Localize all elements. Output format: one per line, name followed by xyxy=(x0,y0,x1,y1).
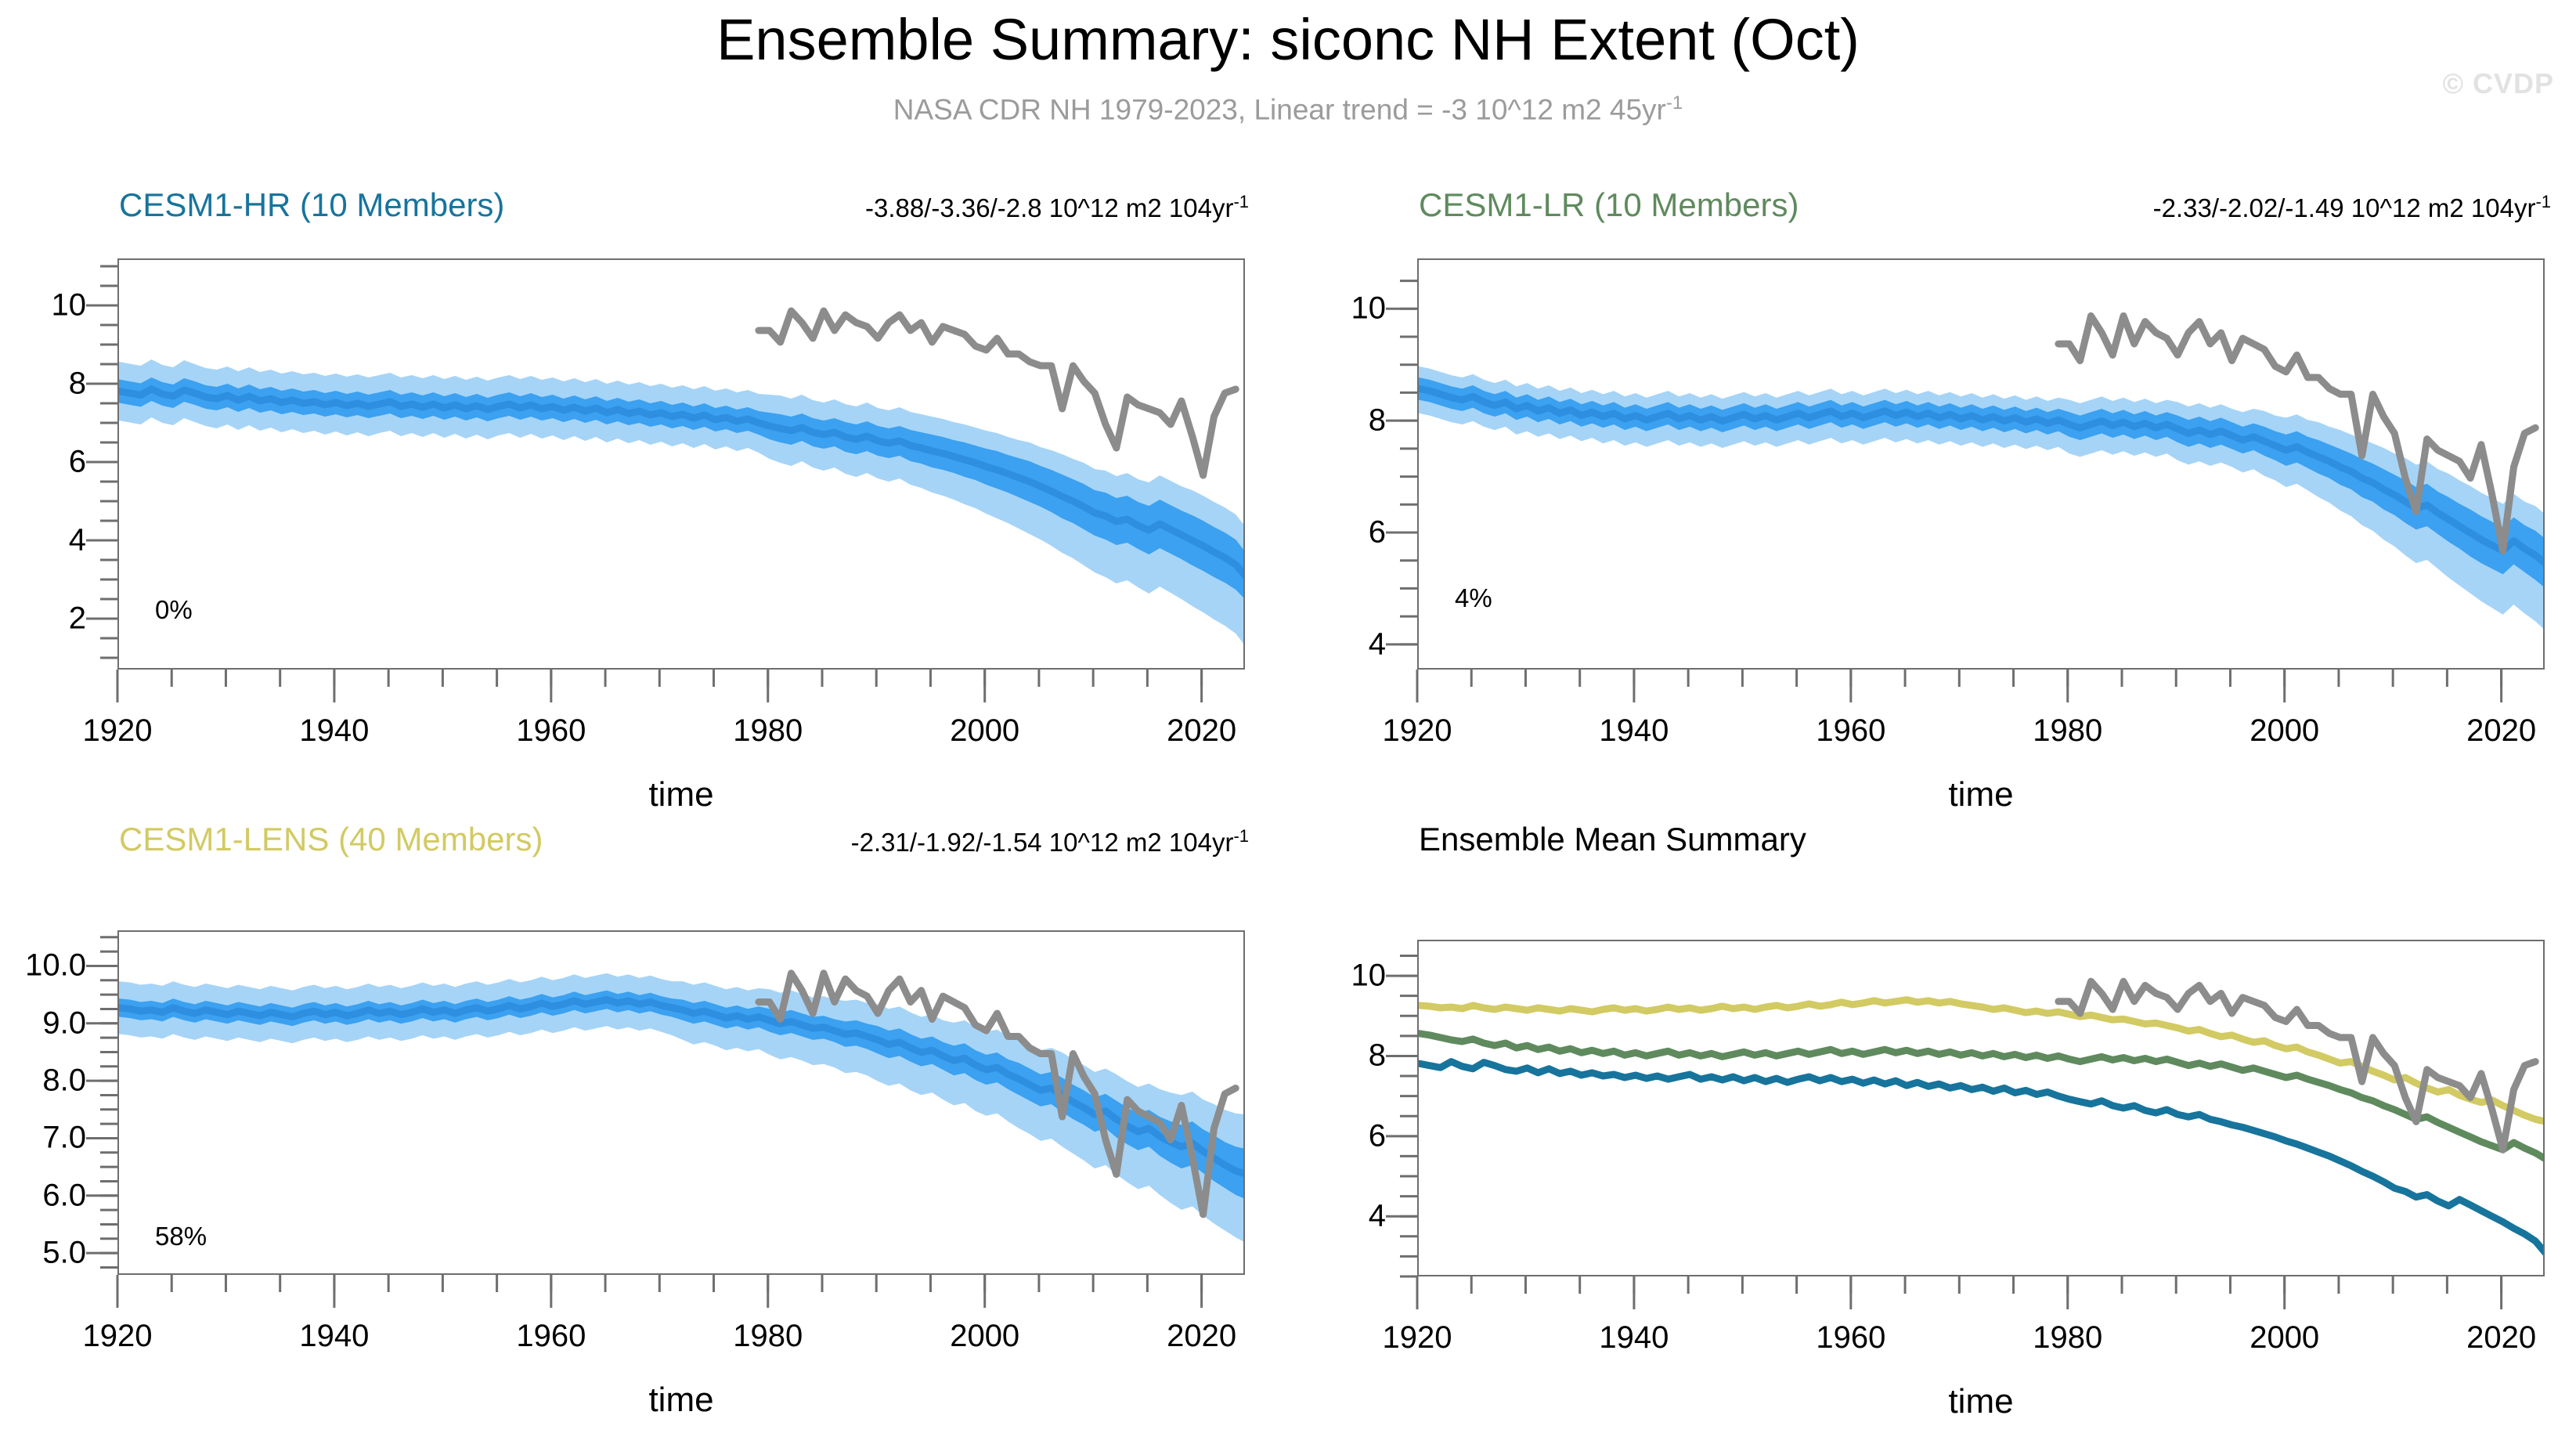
x-tick-label: 2000 xyxy=(950,1319,1019,1354)
x-tick-label: 2020 xyxy=(1167,1319,1236,1354)
y-tick-label: 6.0 xyxy=(0,1178,86,1213)
x-tick-label: 1940 xyxy=(1599,1320,1669,1356)
trend-exponent: -1 xyxy=(2535,192,2551,211)
observation-line xyxy=(2058,981,2535,1150)
x-axis-label-ensemble-mean-summary: time xyxy=(1417,1382,2545,1421)
plot-area-cesm1-hr xyxy=(117,258,1245,670)
x-tick-label: 1960 xyxy=(1816,1320,1885,1356)
cvdp-watermark: © CVDP xyxy=(2442,67,2554,100)
panel-title-ensemble-mean-summary: Ensemble Mean Summary xyxy=(1419,821,1806,858)
overlap-percent-cesm1-lr: 4% xyxy=(1455,583,1492,613)
x-axis-label-cesm1-lr: time xyxy=(1417,775,2545,814)
mean-line-cesm1-lr xyxy=(1419,1034,2545,1160)
plot-area-cesm1-lens xyxy=(117,930,1245,1275)
y-tick-label: 7.0 xyxy=(0,1121,86,1156)
panel-title-cesm1-lr: CESM1-LR (10 Members) xyxy=(1419,186,1799,224)
x-tick-label: 1940 xyxy=(299,1319,369,1354)
x-tick-label: 1920 xyxy=(83,1319,153,1354)
x-tick-label: 1920 xyxy=(83,713,153,749)
x-tick-label: 2000 xyxy=(950,713,1019,749)
y-tick-label: 2 xyxy=(0,601,86,637)
page-subtitle: NASA CDR NH 1979-2023, Linear trend = -3… xyxy=(0,92,2576,126)
x-tick-label: 1980 xyxy=(733,1319,803,1354)
x-axis-label-cesm1-lens: time xyxy=(117,1381,1245,1420)
x-tick-label: 1960 xyxy=(516,713,586,749)
plot-svg-cesm1-lens xyxy=(119,932,1245,1275)
x-tick-label: 1920 xyxy=(1383,713,1452,749)
trend-value: -2.33/-2.02/-1.49 10^12 m2 104yr xyxy=(2153,193,2536,222)
trend-value: -2.31/-1.92/-1.54 10^12 m2 104yr xyxy=(851,828,1234,857)
y-tick-label: 10 xyxy=(1268,959,1386,994)
x-tick-label: 1960 xyxy=(1816,713,1885,749)
y-tick-label: 10 xyxy=(1268,291,1386,327)
trend-annotation-cesm1-lens: -2.31/-1.92/-1.54 10^12 m2 104yr-1 xyxy=(544,826,1249,857)
y-tick-label: 9.0 xyxy=(0,1006,86,1041)
y-tick-label: 6 xyxy=(1268,1118,1386,1154)
subtitle-text: NASA CDR NH 1979-2023, Linear trend = -3… xyxy=(893,93,1666,125)
y-tick-label: 10 xyxy=(0,288,86,323)
plot-area-ensemble-mean-summary xyxy=(1417,940,2545,1276)
x-axis-label-cesm1-hr: time xyxy=(117,775,1245,814)
y-tick-label: 10.0 xyxy=(0,948,86,984)
x-tick-label: 1940 xyxy=(1599,713,1669,749)
plot-svg-cesm1-hr xyxy=(119,260,1245,670)
plot-svg-ensemble-mean-summary xyxy=(1419,941,2545,1276)
x-tick-label: 2000 xyxy=(2249,713,2319,749)
mean-line-cesm1-hr xyxy=(1419,1062,2545,1255)
panel-title-cesm1-hr: CESM1-HR (10 Members) xyxy=(119,186,504,224)
y-tick-label: 6 xyxy=(1268,515,1386,551)
x-tick-label: 1920 xyxy=(1383,1320,1452,1356)
y-tick-label: 8 xyxy=(1268,1038,1386,1074)
x-tick-label: 1940 xyxy=(299,713,369,749)
x-tick-label: 2020 xyxy=(1167,713,1236,749)
trend-annotation-cesm1-hr: -3.88/-3.36/-2.8 10^12 m2 104yr-1 xyxy=(544,192,1249,223)
plot-area-cesm1-lr xyxy=(1417,258,2545,670)
y-tick-label: 4 xyxy=(1268,1199,1386,1234)
y-tick-label: 8 xyxy=(0,366,86,402)
y-tick-label: 8 xyxy=(1268,403,1386,439)
overlap-percent-cesm1-hr: 0% xyxy=(155,595,193,625)
x-tick-label: 1960 xyxy=(516,1319,586,1354)
trend-exponent: -1 xyxy=(1233,192,1249,211)
plot-svg-cesm1-lr xyxy=(1419,260,2545,670)
y-tick-label: 5.0 xyxy=(0,1236,86,1271)
x-tick-label: 2000 xyxy=(2249,1320,2319,1356)
y-tick-label: 6 xyxy=(0,445,86,480)
x-tick-label: 1980 xyxy=(2033,713,2102,749)
panel-title-cesm1-lens: CESM1-LENS (40 Members) xyxy=(119,821,543,858)
x-tick-label: 2020 xyxy=(2466,713,2536,749)
y-tick-label: 4 xyxy=(0,523,86,558)
trend-value: -3.88/-3.36/-2.8 10^12 m2 104yr xyxy=(865,193,1233,222)
trend-annotation-cesm1-lr: -2.33/-2.02/-1.49 10^12 m2 104yr-1 xyxy=(1846,192,2551,223)
page-title: Ensemble Summary: siconc NH Extent (Oct) xyxy=(0,6,2576,73)
x-tick-label: 1980 xyxy=(2033,1320,2102,1356)
subtitle-exponent: -1 xyxy=(1666,92,1683,114)
overlap-percent-cesm1-lens: 58% xyxy=(155,1222,207,1251)
trend-exponent: -1 xyxy=(1233,826,1249,846)
x-tick-label: 2020 xyxy=(2466,1320,2536,1356)
y-tick-label: 4 xyxy=(1268,626,1386,662)
x-tick-label: 1980 xyxy=(733,713,803,749)
y-tick-label: 8.0 xyxy=(0,1063,86,1099)
